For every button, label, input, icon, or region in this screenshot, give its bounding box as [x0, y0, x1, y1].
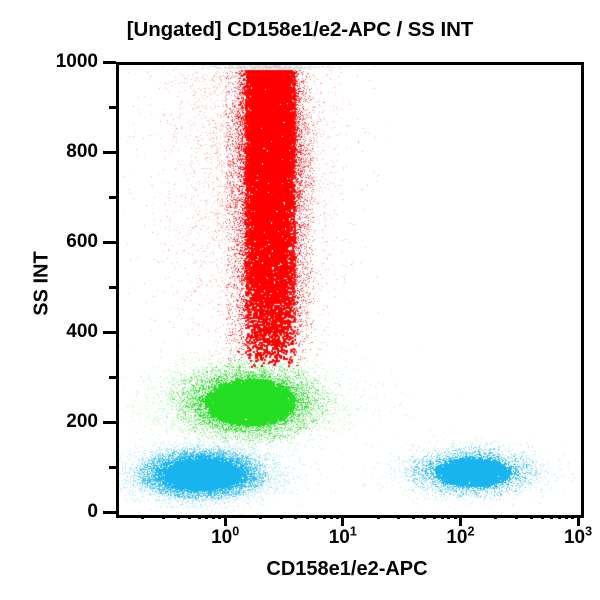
plot-frame[interactable]	[116, 62, 584, 518]
y-tick-minor	[109, 376, 116, 379]
x-axis-label: CD158e1/e2-APC	[116, 558, 578, 581]
y-tick-major	[103, 241, 116, 244]
y-tick-minor	[109, 286, 116, 289]
y-tick-major	[103, 151, 116, 154]
y-tick-label: 400	[0, 322, 98, 341]
flow-cytometry-plot: [Ungated] CD158e1/e2-APC / SS INT SS INT…	[0, 0, 600, 600]
scatter-canvas[interactable]	[119, 65, 581, 515]
x-tick-label: 101	[308, 527, 378, 549]
y-tick-major	[103, 61, 116, 64]
y-tick-major	[103, 331, 116, 334]
x-tick-label: 102	[425, 527, 495, 549]
y-tick-major	[103, 421, 116, 424]
y-tick-label: 0	[0, 502, 98, 521]
y-tick-minor	[109, 106, 116, 109]
y-tick-minor	[109, 466, 116, 469]
x-tick-label: 100	[190, 527, 260, 549]
y-tick-label: 200	[0, 412, 98, 431]
y-tick-major	[103, 511, 116, 514]
y-tick-minor	[109, 196, 116, 199]
page-title: [Ungated] CD158e1/e2-APC / SS INT	[0, 18, 600, 42]
x-tick-label: 103	[543, 527, 600, 549]
y-tick-label: 1000	[0, 52, 98, 71]
y-tick-label: 600	[0, 232, 98, 251]
y-tick-label: 800	[0, 142, 98, 161]
